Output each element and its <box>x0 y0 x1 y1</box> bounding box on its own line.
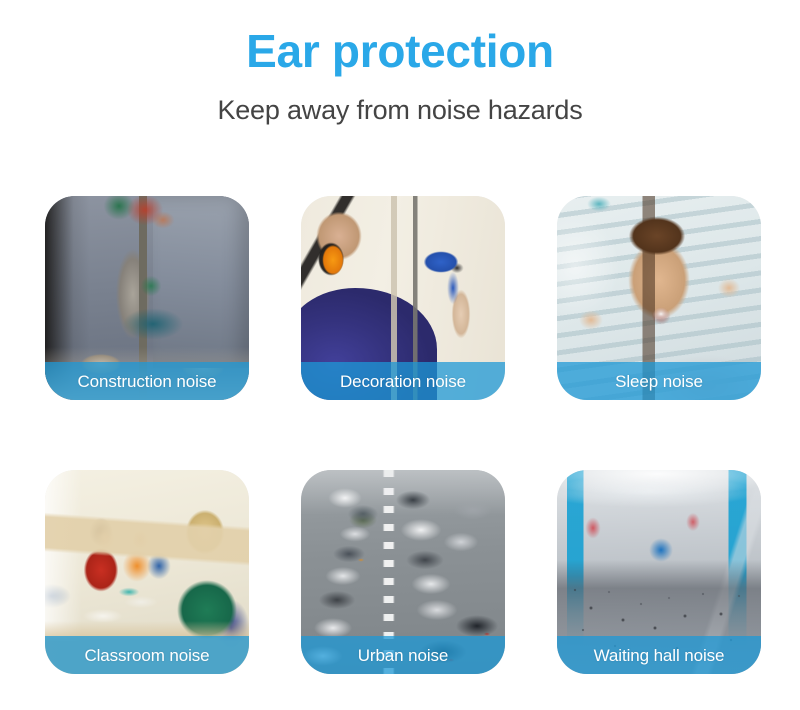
scenario-label-urban-noise: Urban noise <box>358 647 449 664</box>
scenario-label-decoration-noise: Decoration noise <box>340 373 466 390</box>
noise-scenario-row-1: Construction noise Decoration noise Slee… <box>45 196 757 400</box>
scenario-label-bar: Construction noise <box>45 362 249 400</box>
scenario-card-decoration-noise[interactable]: Decoration noise <box>301 196 505 400</box>
scenario-card-sleep-noise[interactable]: Sleep noise <box>557 196 761 400</box>
scenario-card-classroom-noise[interactable]: Classroom noise <box>45 470 249 674</box>
scenario-card-urban-noise[interactable]: Urban noise <box>301 470 505 674</box>
page-title: Ear protection <box>0 26 800 78</box>
scenario-label-construction-noise: Construction noise <box>78 373 217 390</box>
scenario-label-sleep-noise: Sleep noise <box>615 373 703 390</box>
scenario-card-waiting-hall-noise[interactable]: Waiting hall noise <box>557 470 761 674</box>
scenario-card-construction-noise[interactable]: Construction noise <box>45 196 249 400</box>
scenario-label-bar: Sleep noise <box>557 362 761 400</box>
noise-scenario-row-2: Classroom noise Urban noise Waiting hall… <box>45 470 757 674</box>
product-feature-page: Ear protection Keep away from noise haza… <box>0 0 800 710</box>
noise-scenario-grid: Construction noise Decoration noise Slee… <box>45 196 757 674</box>
page-header: Ear protection Keep away from noise haza… <box>0 0 800 126</box>
scenario-label-bar: Urban noise <box>301 636 505 674</box>
scenario-label-bar: Waiting hall noise <box>557 636 761 674</box>
scenario-label-bar: Decoration noise <box>301 362 505 400</box>
scenario-label-waiting-hall-noise: Waiting hall noise <box>594 647 725 664</box>
scenario-label-bar: Classroom noise <box>45 636 249 674</box>
scenario-label-classroom-noise: Classroom noise <box>84 647 209 664</box>
page-subtitle: Keep away from noise hazards <box>0 94 800 126</box>
